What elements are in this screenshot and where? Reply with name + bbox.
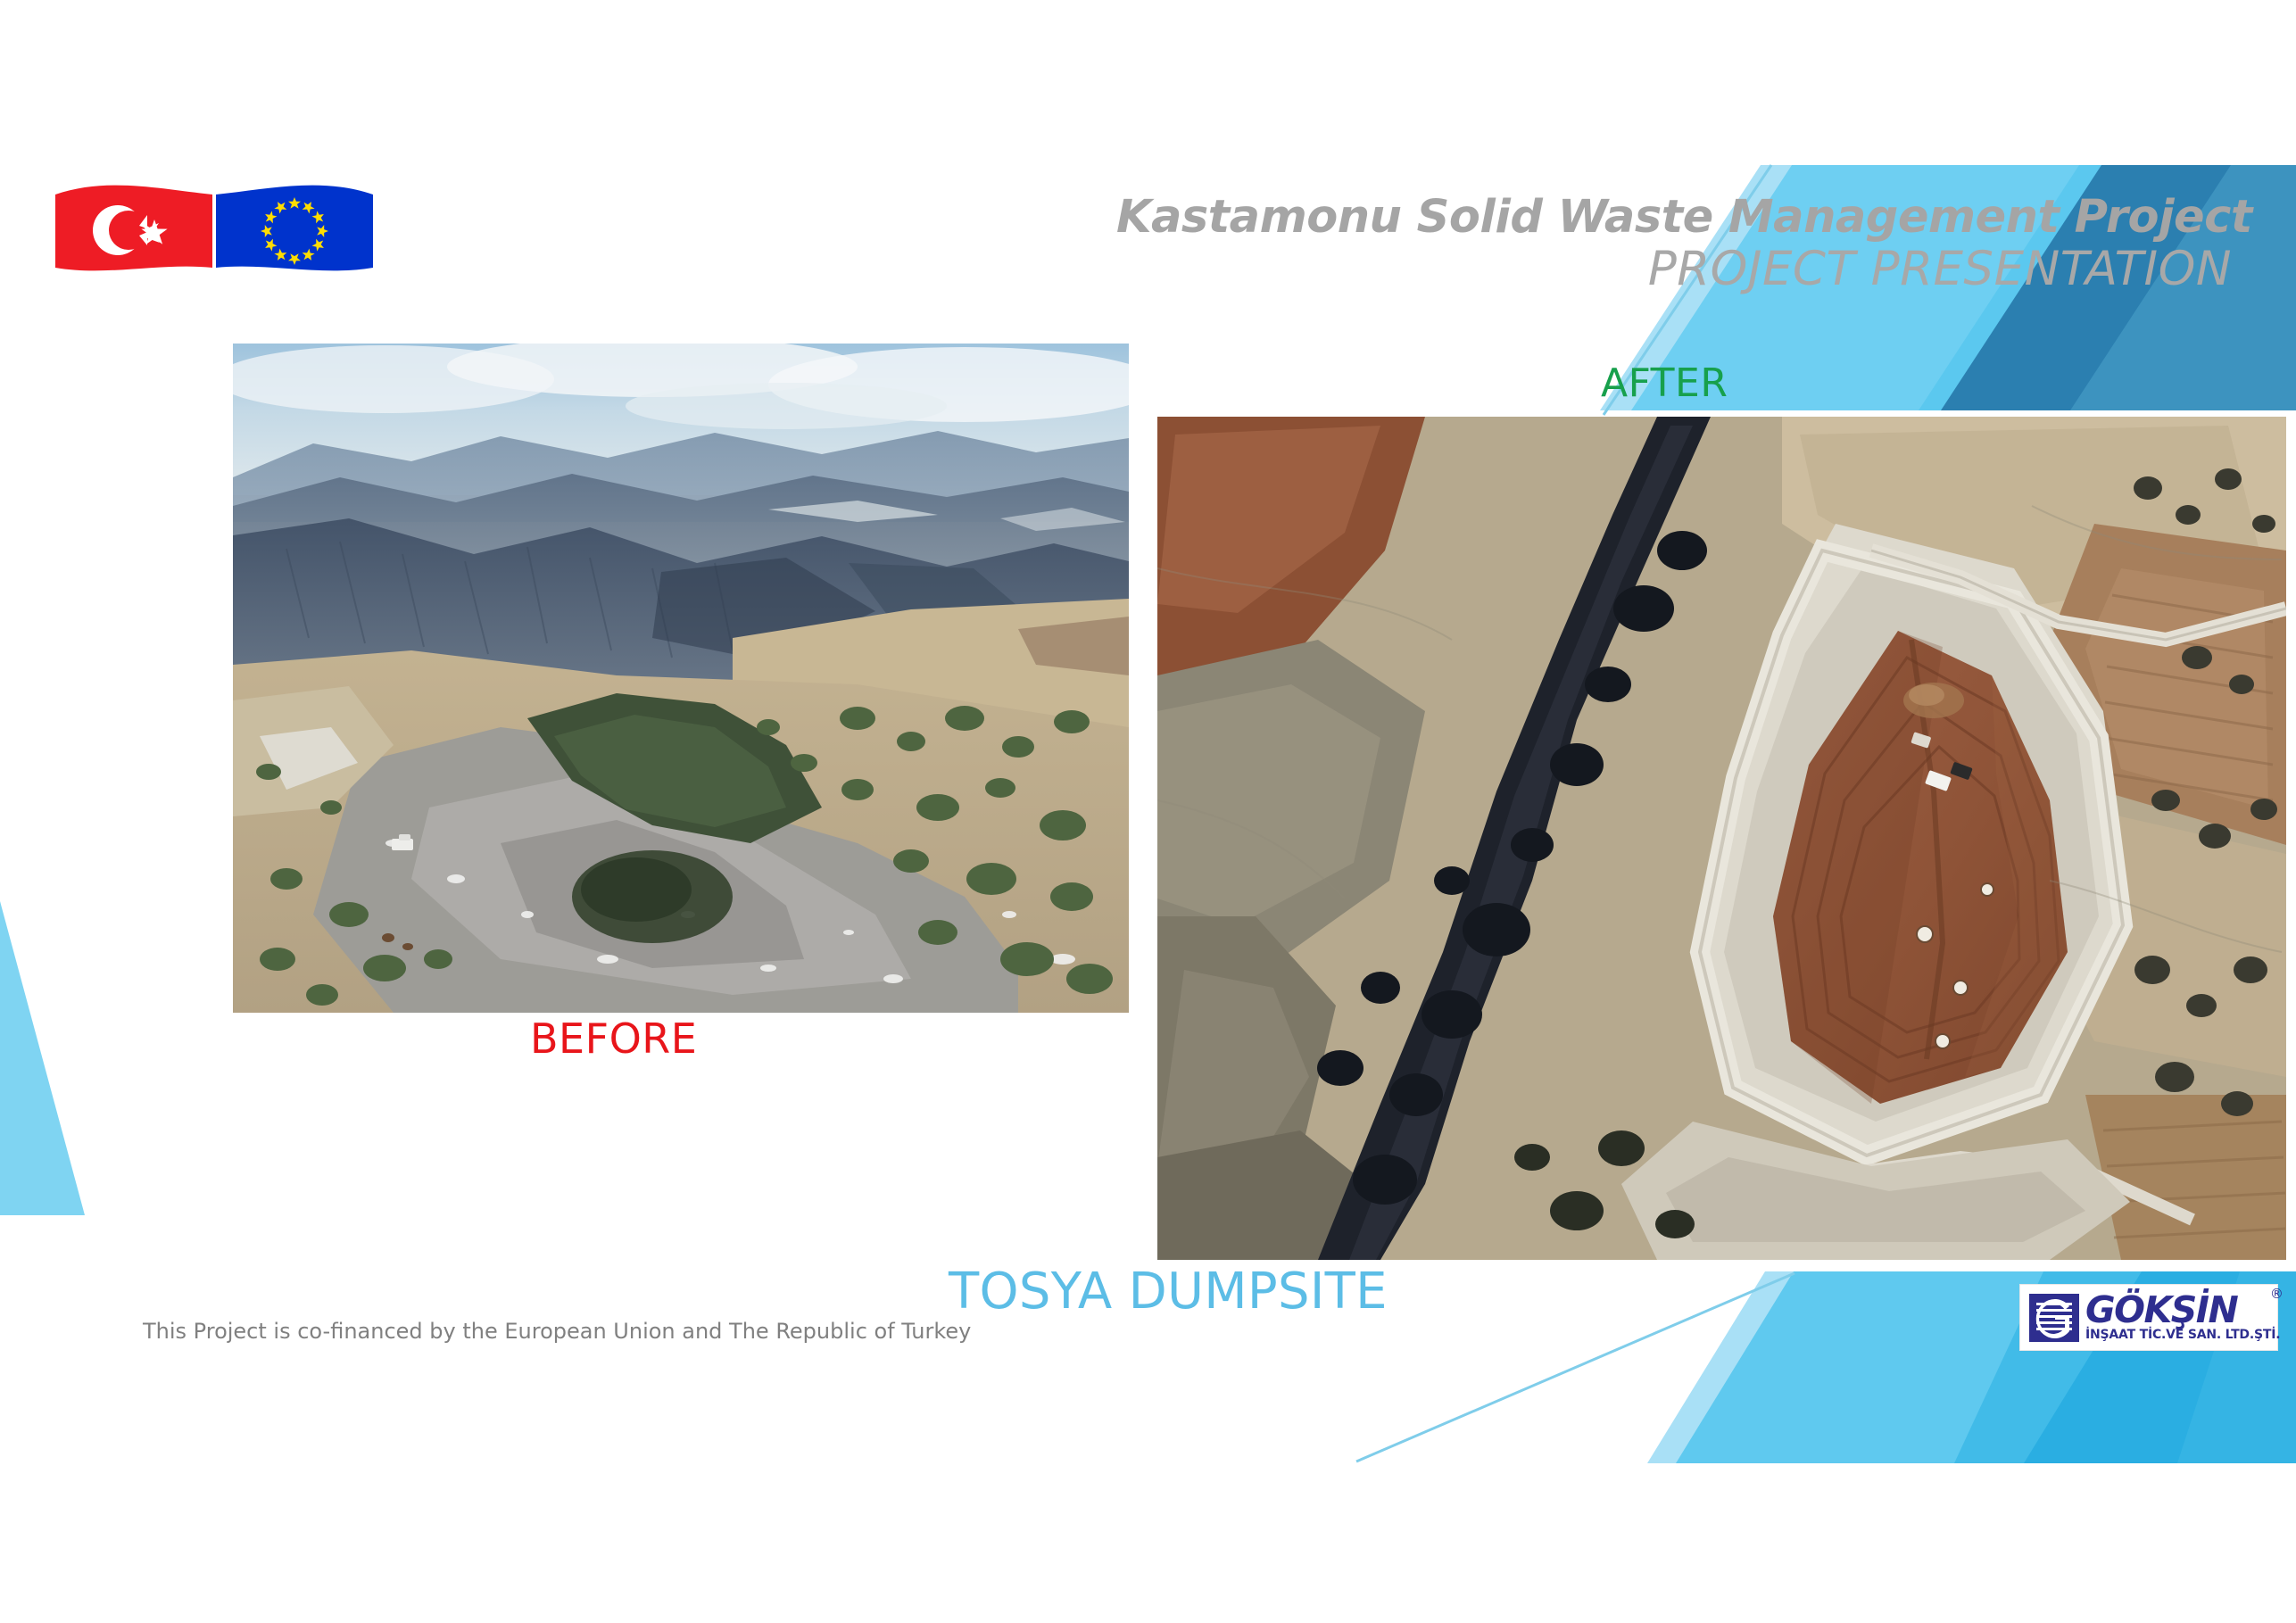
presentation-slide: Kastamonu Solid Waste Management Project… [0,0,2296,1623]
goksin-logo-mark-icon [2027,1292,2081,1344]
page-title: Kastamonu Solid Waste Management Project [1116,195,2232,241]
header-titles: Kastamonu Solid Waste Management Project… [1116,195,2232,294]
turkey-flag [55,186,212,271]
after-photo [1157,417,2286,1260]
site-title: TOSYA DUMPSITE [949,1263,1388,1321]
goksin-word: GÖKŞİN [2085,1288,2237,1331]
registered-mark-icon: ® [2270,1288,2283,1301]
goksin-logo: GÖKŞİN® İNŞAAT TİC.VE SAN. LTD.ŞTİ. [2019,1284,2278,1351]
flags-group [54,175,375,284]
left-accent-triangle [0,901,85,1215]
before-caption: BEFORE [530,1014,697,1063]
goksin-wordmark: GÖKŞİN® [2085,1294,2280,1328]
before-photo [233,344,1129,1013]
after-caption: AFTER [1601,360,1728,406]
goksin-logo-text: GÖKŞİN® İNŞAAT TİC.VE SAN. LTD.ŞTİ. [2081,1294,2285,1342]
funding-note: This Project is co-financed by the Europ… [143,1319,971,1344]
footer-diagonal-line [1356,1273,1795,1462]
european-union-flag [216,186,373,271]
footer-band-pale [1647,1271,1831,1463]
page-subtitle: PROJECT PRESENTATION [1116,244,2232,294]
